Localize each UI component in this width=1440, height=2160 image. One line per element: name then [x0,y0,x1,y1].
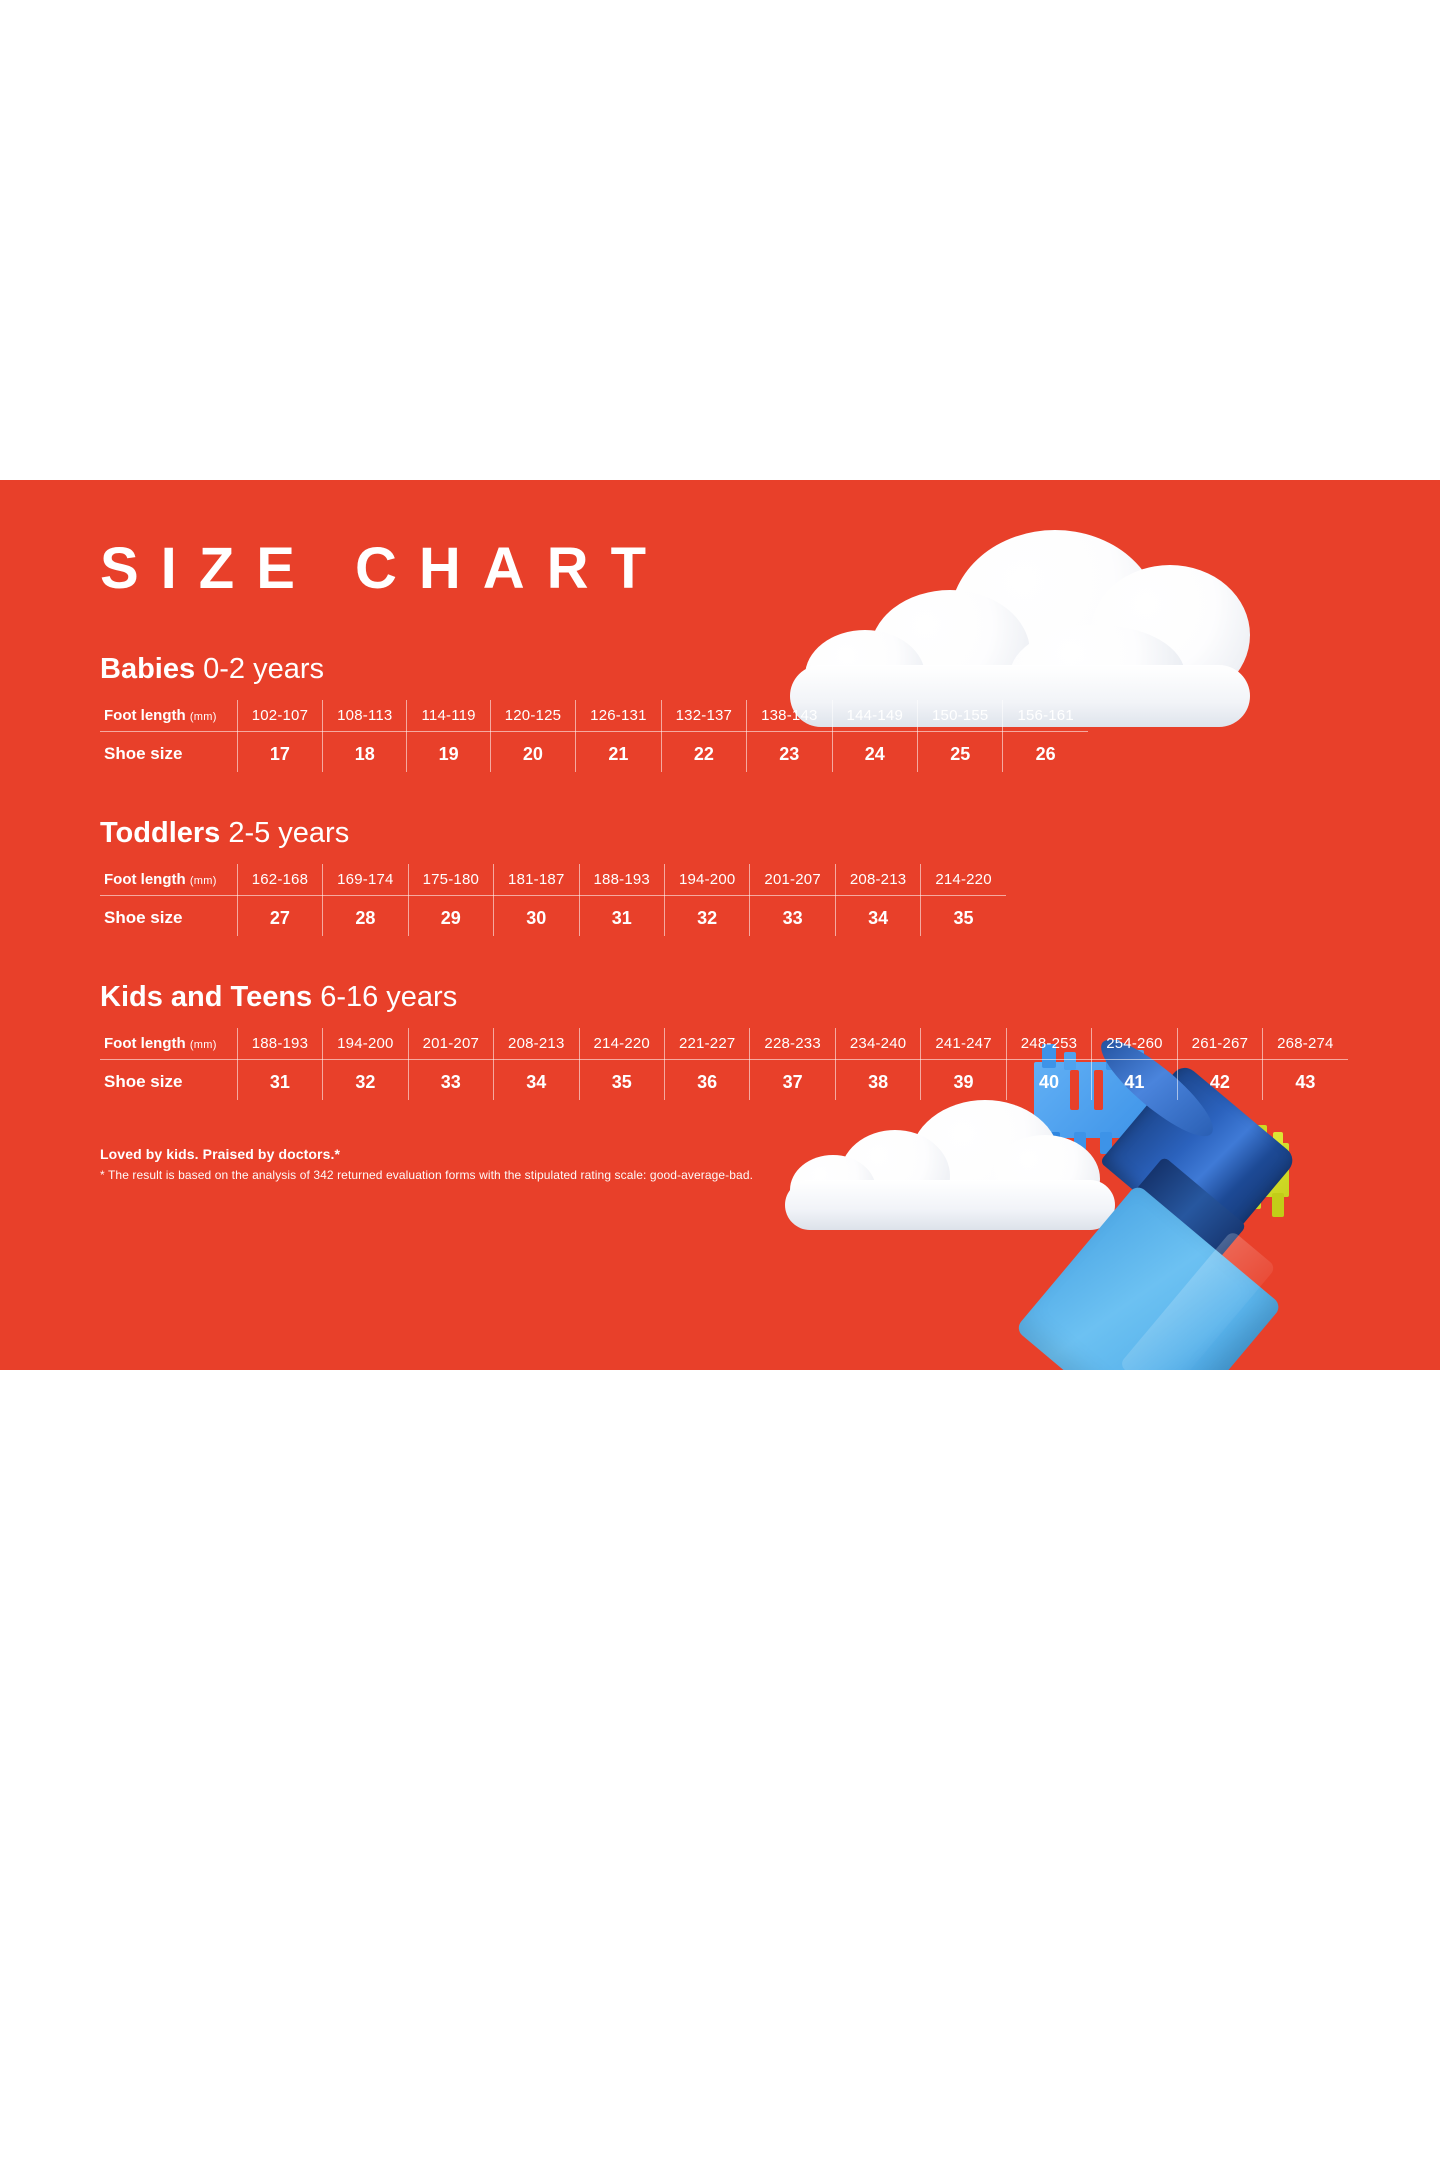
section-babies: Babies0-2 years Foot length (mm) 102-107… [100,654,1290,772]
cell-foot-length: 214-220 [579,1028,664,1060]
row-label-shoe-size: Shoe size [100,731,237,772]
cell-foot-length: 194-200 [664,864,749,896]
cell-foot-length: 120-125 [490,700,575,732]
section-heading-toddlers: Toddlers2-5 years [100,818,1290,850]
row-label-foot-length: Foot length (mm) [100,700,237,732]
footer: Loved by kids. Praised by doctors.* * Th… [100,1146,1290,1182]
section-kids-and-teens: Kids and Teens6-16 years Foot length (mm… [100,982,1290,1100]
cell-shoe-size: 30 [494,895,579,936]
cell-foot-length: 221-227 [664,1028,749,1060]
row-label-shoe-size: Shoe size [100,895,237,936]
cell-shoe-size: 29 [408,895,493,936]
cell-shoe-size: 31 [237,1059,322,1100]
cell-foot-length: 268-274 [1263,1028,1348,1060]
cell-foot-length: 108-113 [323,700,407,732]
size-table-toddlers: Foot length (mm) 162-168 169-174 175-180… [100,864,1006,936]
table-row-shoe-size: Shoe size 31 32 33 34 35 36 37 38 39 40 … [100,1059,1348,1100]
cell-foot-length: 188-193 [237,1028,322,1060]
cell-shoe-size: 34 [494,1059,579,1100]
section-toddlers: Toddlers2-5 years Foot length (mm) 162-1… [100,818,1290,936]
table-row-shoe-size: Shoe size 17 18 19 20 21 22 23 24 25 26 [100,731,1088,772]
section-group-label: Kids and Teens [100,981,312,1013]
cell-shoe-size: 41 [1092,1059,1177,1100]
row-label-unit: (mm) [190,875,217,887]
row-label-foot-length: Foot length (mm) [100,1028,237,1060]
table-row-shoe-size: Shoe size 27 28 29 30 31 32 33 34 35 [100,895,1006,936]
row-label-text: Foot length [104,1035,186,1052]
cell-foot-length: 132-137 [661,700,746,732]
cell-foot-length: 138-143 [747,700,832,732]
section-age-label: 0-2 years [203,653,324,685]
row-label-unit: (mm) [190,711,217,723]
cell-foot-length: 194-200 [323,1028,408,1060]
cell-foot-length: 150-155 [917,700,1002,732]
section-heading-kids-and-teens: Kids and Teens6-16 years [100,982,1290,1014]
cell-shoe-size: 33 [408,1059,493,1100]
row-label-shoe-size: Shoe size [100,1059,237,1100]
cell-foot-length: 208-213 [494,1028,579,1060]
table-row-foot-length: Foot length (mm) 188-193 194-200 201-207… [100,1028,1348,1060]
cell-foot-length: 201-207 [750,864,835,896]
footer-claim: Loved by kids. Praised by doctors.* [100,1146,1290,1162]
cell-foot-length: 156-161 [1003,700,1088,732]
cell-shoe-size: 43 [1263,1059,1348,1100]
cell-shoe-size: 25 [917,731,1002,772]
cell-shoe-size: 28 [323,895,408,936]
row-label-text: Foot length [104,707,186,724]
cell-foot-length: 254-260 [1092,1028,1177,1060]
cell-foot-length: 126-131 [576,700,661,732]
footer-note: * The result is based on the analysis of… [100,1168,1290,1182]
cell-foot-length: 261-267 [1177,1028,1262,1060]
cell-shoe-size: 39 [921,1059,1006,1100]
cell-shoe-size: 32 [323,1059,408,1100]
cell-foot-length: 248-253 [1006,1028,1091,1060]
cell-foot-length: 175-180 [408,864,493,896]
cell-shoe-size: 26 [1003,731,1088,772]
row-label-foot-length: Foot length (mm) [100,864,237,896]
cell-shoe-size: 23 [747,731,832,772]
cell-shoe-size: 33 [750,895,835,936]
cell-shoe-size: 31 [579,895,664,936]
row-label-text: Foot length [104,871,186,888]
cell-shoe-size: 35 [921,895,1006,936]
cell-foot-length: 162-168 [237,864,322,896]
cell-shoe-size: 36 [664,1059,749,1100]
cell-foot-length: 241-247 [921,1028,1006,1060]
cell-foot-length: 188-193 [579,864,664,896]
cell-shoe-size: 32 [664,895,749,936]
cell-shoe-size: 38 [835,1059,920,1100]
cell-shoe-size: 42 [1177,1059,1262,1100]
cell-shoe-size: 40 [1006,1059,1091,1100]
size-table-babies: Foot length (mm) 102-107 108-113 114-119… [100,700,1088,772]
cell-foot-length: 114-119 [407,700,490,732]
cell-foot-length: 102-107 [237,700,322,732]
cell-shoe-size: 21 [576,731,661,772]
size-chart-panel: SIZE CHART Babies0-2 years Foot length (… [0,480,1440,1370]
cell-foot-length: 208-213 [835,864,920,896]
cell-shoe-size: 20 [490,731,575,772]
section-age-label: 6-16 years [320,981,457,1013]
cell-shoe-size: 37 [750,1059,835,1100]
size-table-kids-and-teens: Foot length (mm) 188-193 194-200 201-207… [100,1028,1348,1100]
bottle-body [1015,1184,1283,1370]
section-heading-babies: Babies0-2 years [100,654,1290,686]
row-label-unit: (mm) [190,1039,217,1051]
cell-shoe-size: 35 [579,1059,664,1100]
section-group-label: Toddlers [100,817,220,849]
bottle-body-highlight [1119,1230,1277,1370]
cell-shoe-size: 17 [237,731,322,772]
cell-shoe-size: 22 [661,731,746,772]
cell-foot-length: 214-220 [921,864,1006,896]
cell-shoe-size: 24 [832,731,917,772]
cell-shoe-size: 27 [237,895,322,936]
table-row-foot-length: Foot length (mm) 162-168 169-174 175-180… [100,864,1006,896]
cell-foot-length: 228-233 [750,1028,835,1060]
cell-shoe-size: 19 [407,731,490,772]
cell-shoe-size: 18 [323,731,407,772]
cell-foot-length: 169-174 [323,864,408,896]
cell-foot-length: 201-207 [408,1028,493,1060]
section-group-label: Babies [100,653,195,685]
page-title: SIZE CHART [100,540,1290,598]
cell-foot-length: 234-240 [835,1028,920,1060]
table-row-foot-length: Foot length (mm) 102-107 108-113 114-119… [100,700,1088,732]
cell-foot-length: 144-149 [832,700,917,732]
section-age-label: 2-5 years [228,817,349,849]
cell-foot-length: 181-187 [494,864,579,896]
cell-shoe-size: 34 [835,895,920,936]
